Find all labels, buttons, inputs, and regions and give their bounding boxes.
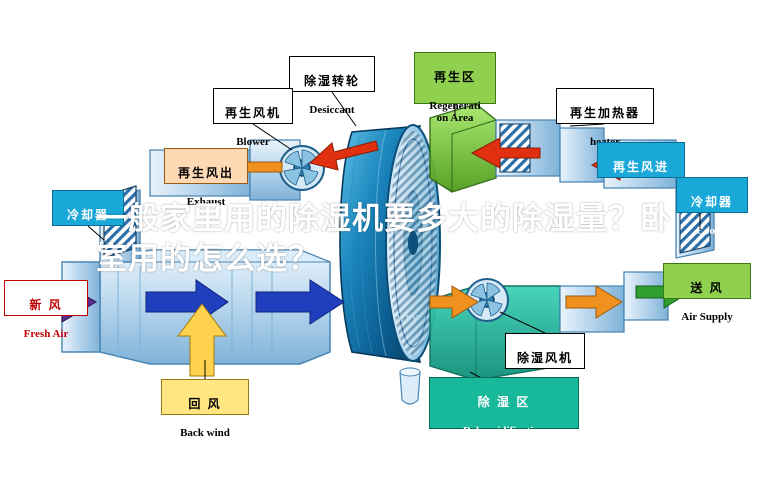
label-back-wind: 回 风 Back wind [161,379,249,415]
label-regeneration-area-en: Regenerati on Area [418,101,492,125]
label-fresh-air-cn: 新 风 [8,299,84,312]
label-air-supply-cn: 送 风 [667,282,747,295]
label-regeneration-exhaust: 再生风出 Exhaust [164,148,248,184]
label-regeneration-exhaust-en: Exhaust [168,197,244,209]
label-regeneration-heater-cn: 再生加热器 [560,107,650,120]
svg-text:XTY: XTY [396,313,419,325]
label-cooler-left: 冷却器 Cooler [52,190,124,226]
label-regeneration-heater: 再生加热器 heater [556,88,654,124]
label-cooler-left-en: Cooler [56,239,120,251]
label-air-supply: 送 风 Air Supply [663,263,751,299]
label-cooler-right: 冷却器 Cooler [676,177,748,213]
rotor-base-part [400,368,420,404]
label-back-wind-en: Back wind [165,428,245,440]
label-fresh-air: 新 风 Fresh Air [4,280,88,316]
label-dehumidify-blower: 除湿风机 Blower [505,333,585,369]
label-dehumidification-district: 除 湿 区 Dehumidification District [429,377,579,429]
label-desiccant-wheel: 除湿转轮 Desiccant [289,56,375,92]
label-regeneration-inlet-cn: 再生风进 [601,161,681,174]
label-regeneration-blower-cn: 再生风机 [217,107,289,120]
label-regeneration-inlet: 再生风进 Fresh Air [597,142,685,178]
label-regeneration-blower: 再生风机 Blower [213,88,293,124]
label-regeneration-exhaust-cn: 再生风出 [168,167,244,180]
diagram-canvas: XTY [0,0,757,488]
label-air-supply-en: Air Supply [667,312,747,324]
label-dehumidification-district-cn: 除 湿 区 [433,396,575,409]
desiccant-rotor: XTY [340,125,440,362]
label-cooler-left-cn: 冷却器 [56,209,120,222]
label-desiccant-wheel-cn: 除湿转轮 [293,75,371,88]
label-cooler-right-cn: 冷却器 [680,196,744,209]
label-regeneration-area: 再生区 Regenerati on Area [414,52,496,104]
label-regeneration-inlet-en: Fresh Air [601,191,681,203]
label-regeneration-area-cn: 再生区 [418,71,492,84]
label-dehumidify-blower-cn: 除湿风机 [509,352,581,365]
label-cooler-right-en: Cooler [680,226,744,238]
label-back-wind-cn: 回 风 [165,398,245,411]
label-dehumidification-district-en: Dehumidification District [433,426,575,450]
label-desiccant-wheel-en: Desiccant [293,105,371,117]
label-fresh-air-en: Fresh Air [8,329,84,341]
